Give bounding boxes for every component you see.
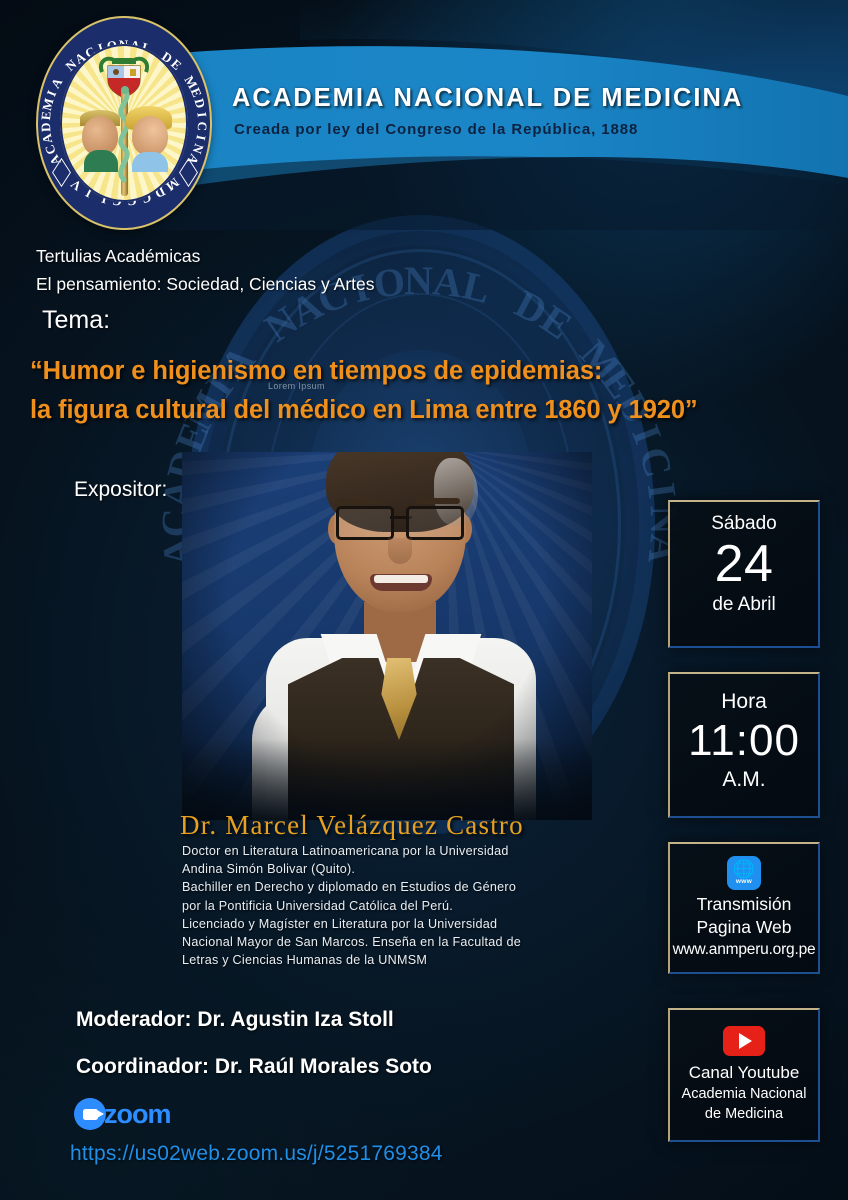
speaker-bio-line: por la Pontificia Universidad Católica d… (182, 897, 602, 915)
speaker-bio: Doctor en Literatura Latinoamericana por… (182, 842, 602, 969)
seal-figure-right-robe (132, 152, 168, 172)
youtube-card[interactable]: Canal Youtube Academia Nacional de Medic… (668, 1008, 820, 1142)
date-month: de Abril (670, 592, 818, 617)
header-text-block: ACADEMIA NACIONAL DE MEDICINA Creada por… (232, 84, 832, 138)
speaker-photo (182, 452, 592, 820)
date-weekday: Sábado (670, 511, 818, 536)
zoom-meeting-link[interactable]: https://us02web.zoom.us/j/5251769384 (70, 1142, 443, 1166)
seal-figure-right (132, 116, 168, 156)
web-stream-url[interactable]: www.anmperu.org.pe (670, 939, 818, 961)
time-meridiem: A.M. (670, 766, 818, 794)
topic-label: Tema: (42, 306, 110, 335)
speaker-label: Expositor: (74, 478, 167, 502)
moderator-row: Moderador: Dr. Agustin Iza Stoll (76, 996, 432, 1043)
zoom-wordmark: zoom (104, 1099, 171, 1130)
web-stream-line-1: Transmisión (670, 893, 818, 916)
coordinator-name: Dr. Raúl Morales Soto (215, 1055, 432, 1078)
moderator-label: Moderador: (76, 1008, 192, 1031)
zoom-camera-icon (74, 1098, 106, 1130)
www-icon-label: www (736, 878, 752, 886)
youtube-icon (723, 1026, 765, 1056)
web-stream-card[interactable]: 🌐 www Transmisión Pagina Web www.anmperu… (668, 842, 820, 974)
event-title-line-1: “Humor e higienismo en tiempos de epidem… (30, 352, 820, 391)
academy-seal-logo: ACADEMIA NACIONAL DE MEDICINAMDCCCLIV (38, 18, 210, 228)
photo-vignette (182, 452, 592, 820)
speaker-bio-line: Bachiller en Derecho y diplomado en Estu… (182, 878, 602, 896)
seal-figure-left-robe (84, 150, 118, 172)
roles-block: Moderador: Dr. Agustin Iza Stoll Coordin… (76, 996, 432, 1090)
time-card: Hora 11:00 A.M. (668, 672, 820, 818)
moderator-name: Dr. Agustin Iza Stoll (197, 1008, 393, 1031)
speaker-bio-line: Andina Simón Bolivar (Quito). (182, 860, 602, 878)
page-title: ACADEMIA NACIONAL DE MEDICINA (232, 84, 832, 113)
date-card: Sábado 24 de Abril (668, 500, 820, 648)
youtube-line-2: Academia Nacional (670, 1084, 818, 1104)
speaker-bio-line: Licenciado y Magíster en Literatura por … (182, 915, 602, 933)
web-stream-line-2: Pagina Web (670, 916, 818, 939)
coordinator-row: Coordinador: Dr. Raúl Morales Soto (76, 1043, 432, 1090)
speaker-name: Dr. Marcel Velázquez Castro (180, 810, 524, 841)
series-line-1: Tertulias Académicas (36, 242, 375, 270)
speaker-bio-line: Letras y Ciencias Humanas de la UNMSM (182, 951, 602, 969)
speaker-bio-line: Doctor en Literatura Latinoamericana por… (182, 842, 602, 860)
seal-face (60, 44, 188, 202)
time-label: Hora (670, 688, 818, 716)
lorem-ipsum-watermark: Lorem Ipsum (268, 381, 325, 391)
event-title: “Humor e higienismo en tiempos de epidem… (30, 352, 820, 430)
date-day: 24 (670, 536, 818, 592)
series-line-2: El pensamiento: Sociedad, Ciencias y Art… (36, 270, 375, 298)
youtube-line-1: Canal Youtube (670, 1062, 818, 1084)
time-value: 11:00 (670, 716, 818, 766)
series-block: Tertulias Académicas El pensamiento: Soc… (36, 242, 375, 298)
header-subtitle: Creada por ley del Congreso de la Repúbl… (234, 121, 832, 138)
event-poster: ACADEMIA NACIONAL DE MEDICINA (0, 0, 848, 1200)
speaker-bio-line: Nacional Mayor de San Marcos. Enseña en … (182, 933, 602, 951)
youtube-line-3: de Medicina (670, 1104, 818, 1124)
zoom-logo: zoom (74, 1098, 171, 1130)
event-title-line-2: la figura cultural del médico en Lima en… (30, 391, 820, 430)
globe-www-icon: 🌐 www (727, 856, 761, 890)
coordinator-label: Coordinador: (76, 1055, 209, 1078)
